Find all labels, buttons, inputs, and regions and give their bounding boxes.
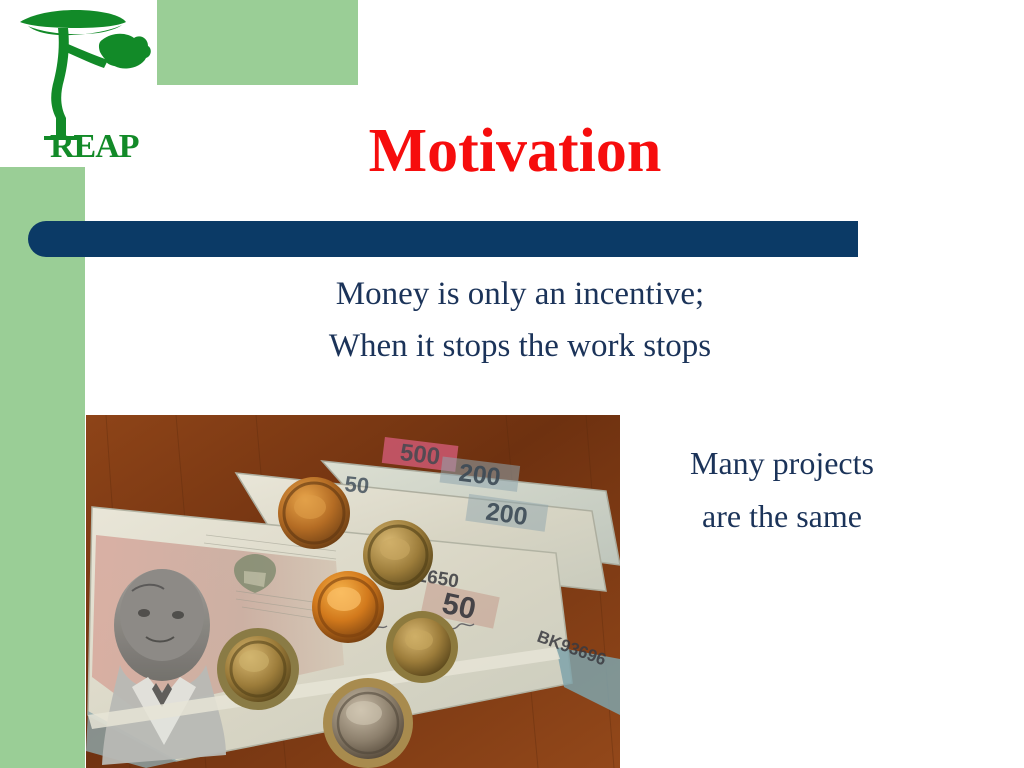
caption-line-2: are the same	[632, 490, 932, 543]
quote-line-1: Money is only an incentive;	[180, 268, 860, 320]
title-divider-bar	[28, 221, 858, 257]
presentation-slide: REAP Motivation Money is only an incenti…	[0, 0, 1024, 768]
caption-text-block: Many projects are the same	[632, 437, 932, 543]
svg-text:200: 200	[457, 459, 502, 492]
money-photo: 500 200 200 1650 50 50 BK93696	[86, 415, 620, 768]
quote-text-block: Money is only an incentive; When it stop…	[180, 268, 860, 372]
svg-text:200: 200	[484, 498, 529, 532]
decorative-green-rectangle-top	[157, 0, 358, 85]
decorative-green-bar-left	[0, 167, 85, 768]
caption-line-1: Many projects	[632, 437, 932, 490]
svg-text:500: 500	[398, 439, 441, 471]
kenyan-currency-illustration: 500 200 200 1650 50 50 BK93696	[86, 415, 620, 768]
svg-text:50: 50	[343, 471, 370, 498]
page-title: Motivation	[120, 116, 910, 186]
quote-line-2: When it stops the work stops	[180, 320, 860, 372]
